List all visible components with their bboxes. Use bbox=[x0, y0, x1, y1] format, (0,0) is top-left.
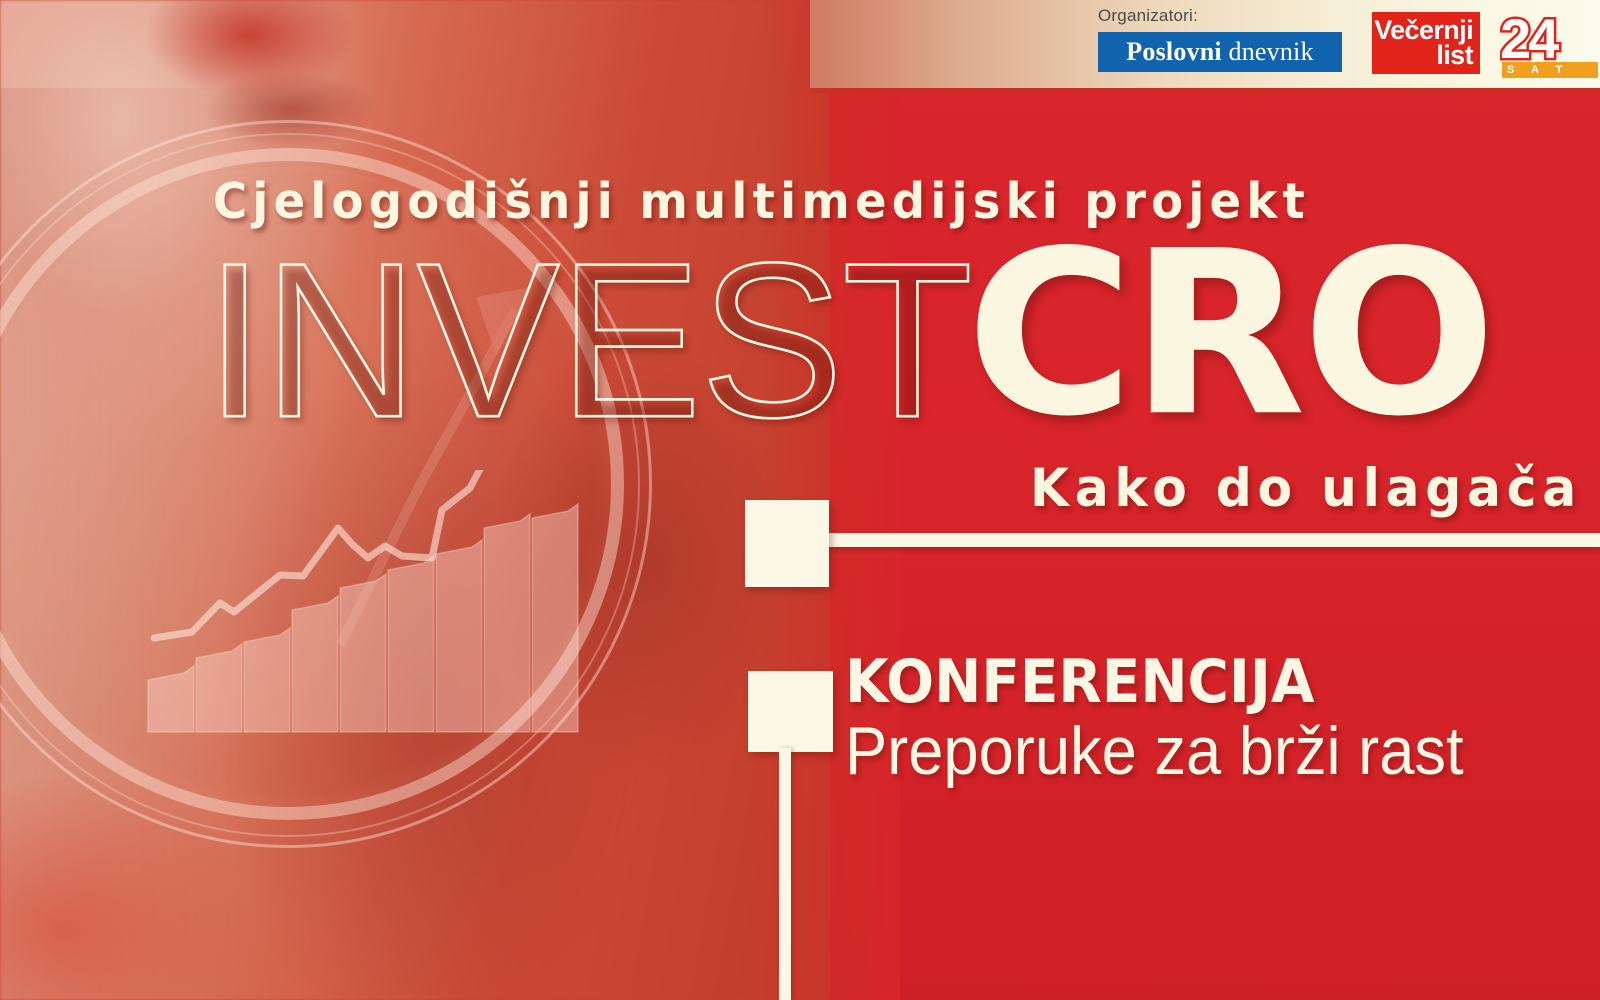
logo-24-sat[interactable]: 24 S A T bbox=[1500, 10, 1600, 80]
vertical-rule bbox=[779, 748, 791, 1000]
marker-square-top bbox=[745, 500, 829, 587]
logo-vecernji-list-line1: Večernji bbox=[1374, 18, 1473, 43]
logo-24-sat-word: S A T bbox=[1502, 64, 1569, 76]
logo-poslovni-dnevnik-word2: dnevnik bbox=[1229, 37, 1314, 66]
horizontal-rule bbox=[800, 533, 1600, 547]
logo-24-sat-bar: S A T bbox=[1502, 62, 1598, 78]
marker-square-bottom bbox=[748, 671, 833, 752]
logo-vecernji-list-line2: list bbox=[1436, 43, 1473, 68]
organisers-panel-underline bbox=[810, 88, 1600, 93]
wordmark-invest: INVEST bbox=[205, 231, 972, 451]
organisers-panel: Organizatori: Poslovni dnevnik Večernji … bbox=[810, 0, 1600, 88]
conference-block: KONFERENCIJA Preporuke za brži rast bbox=[845, 652, 1600, 787]
bar-chart-graphic bbox=[140, 470, 610, 740]
conference-subtitle: Preporuke za brži rast bbox=[845, 716, 1547, 787]
logo-poslovni-dnevnik[interactable]: Poslovni dnevnik bbox=[1098, 32, 1342, 72]
tagline-text: Kako do ulagača bbox=[1030, 458, 1582, 519]
wordmark-cro: CRO bbox=[966, 221, 1492, 448]
wordmark: INVESTCRO bbox=[205, 232, 1462, 448]
logo-vecernji-list[interactable]: Večernji list bbox=[1372, 12, 1480, 74]
banner-root: Organizatori: Poslovni dnevnik Večernji … bbox=[0, 0, 1600, 1000]
organisers-label: Organizatori: bbox=[1098, 6, 1198, 26]
conference-title: KONFERENCIJA bbox=[845, 652, 1555, 712]
logo-poslovni-dnevnik-word1: Poslovni bbox=[1126, 37, 1222, 66]
